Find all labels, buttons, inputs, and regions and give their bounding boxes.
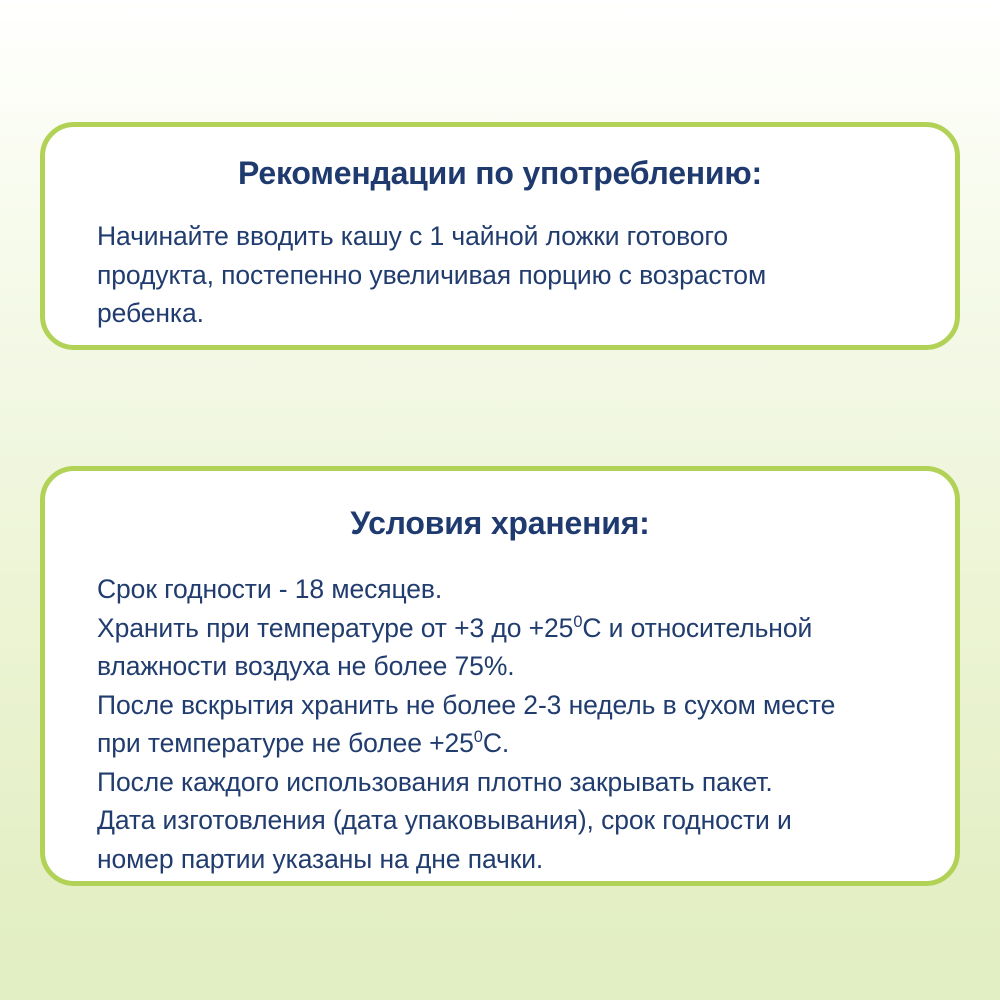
storage-line-6: После каждого использования плотно закры…: [97, 763, 932, 802]
storage-line-8: номер партии указаны на дне пачки.: [97, 840, 932, 879]
degree-symbol: 0: [573, 613, 582, 631]
recommendations-line-3: ребенка.: [97, 294, 927, 333]
degree-symbol: 0: [474, 728, 483, 746]
storage-line-4: После вскрытия хранить не более 2-3 неде…: [97, 686, 932, 725]
recommendations-line-2: продукта, постепенно увеличивая порцию с…: [97, 256, 927, 295]
storage-line-5: при температуре не более +250C.: [97, 724, 932, 763]
storage-line-3: влажности воздуха не более 75%.: [97, 647, 932, 686]
product-info-page: Рекомендации по употреблению: Начинайте …: [0, 0, 1000, 1000]
storage-line-2: Хранить при температуре от +3 до +250C и…: [97, 609, 932, 648]
storage-conditions-title: Условия хранения:: [45, 506, 955, 541]
recommendations-title: Рекомендации по употреблению:: [45, 156, 955, 191]
storage-conditions-body: Срок годности - 18 месяцев. Хранить при …: [97, 570, 932, 878]
storage-line-1: Срок годности - 18 месяцев.: [97, 570, 932, 609]
recommendations-body: Начинайте вводить кашу с 1 чайной ложки …: [97, 217, 927, 333]
storage-conditions-card: Условия хранения: Срок годности - 18 мес…: [40, 466, 960, 886]
recommendations-line-1: Начинайте вводить кашу с 1 чайной ложки …: [97, 217, 927, 256]
recommendations-card: Рекомендации по употреблению: Начинайте …: [40, 122, 960, 350]
storage-line-7: Дата изготовления (дата упаковывания), с…: [97, 801, 932, 840]
